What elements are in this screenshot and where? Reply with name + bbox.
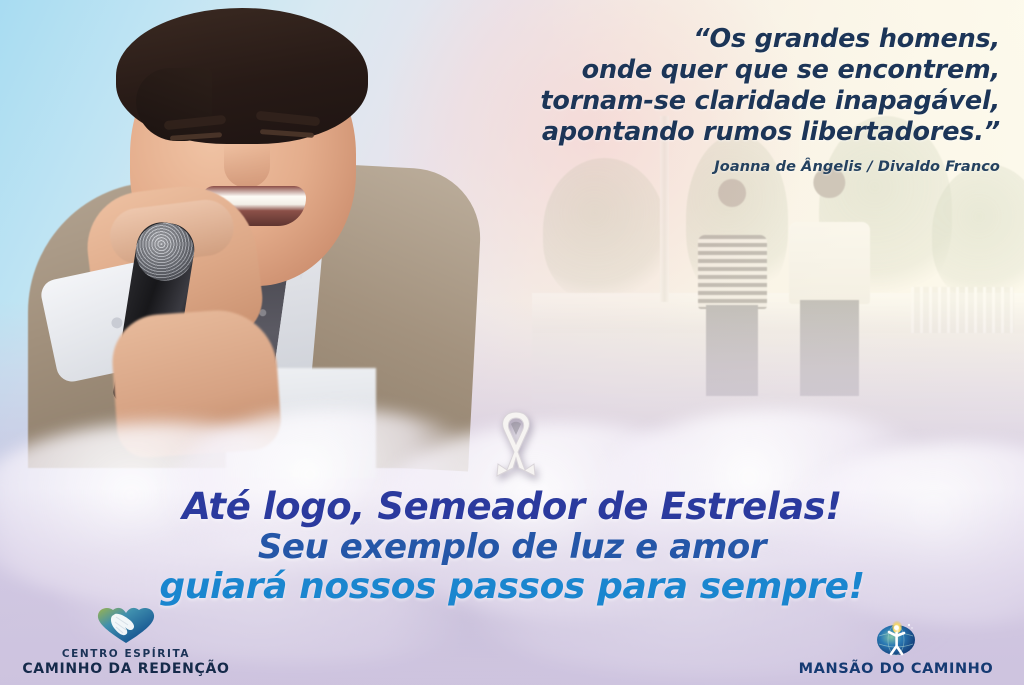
nose	[224, 144, 270, 188]
headline-block: Até logo, Semeador de Estrelas! Seu exem…	[0, 487, 1024, 607]
figure-torso	[698, 235, 767, 309]
figure-torso	[789, 222, 870, 304]
quote-line-1: “Os grandes homens,	[380, 24, 1000, 55]
figure-head	[718, 179, 746, 207]
quote-line-4: apontando rumos libertadores.”	[380, 117, 1000, 148]
headline-line-3: guiará nossos passos para sempre!	[0, 567, 1024, 607]
foliage-shape	[543, 158, 666, 303]
headline-line-1: Até logo, Semeador de Estrelas!	[0, 487, 1024, 527]
quote-line-3: tornam-se claridade inapagável,	[380, 86, 1000, 117]
hair	[116, 8, 368, 144]
logo-left-line-2: CAMINHO DA REDENÇÃO	[6, 661, 246, 677]
quote-block: “Os grandes homens, onde quer que se enc…	[380, 24, 1000, 175]
logo-mansao-do-caminho: MANSÃO DO CAMINHO	[776, 617, 1016, 677]
quote-attribution: Joanna de Ângelis / Divaldo Franco	[380, 159, 1000, 175]
logo-centro-espirita: CENTRO ESPÍRITA CAMINHO DA REDENÇÃO	[6, 605, 246, 677]
heart-hands-icon	[6, 605, 246, 645]
headline-line-2: Seu exemplo de luz e amor	[0, 527, 1024, 567]
white-ribbon-icon	[489, 408, 543, 480]
globe-figure-light-icon	[776, 617, 1016, 657]
memorial-poster: “Os grandes homens, onde quer que se enc…	[0, 0, 1024, 685]
quote-line-2: onde quer que se encontrem,	[380, 55, 1000, 86]
logo-left-line-1: CENTRO ESPÍRITA	[6, 648, 246, 660]
logo-right-line-1: MANSÃO DO CAMINHO	[776, 661, 1016, 677]
